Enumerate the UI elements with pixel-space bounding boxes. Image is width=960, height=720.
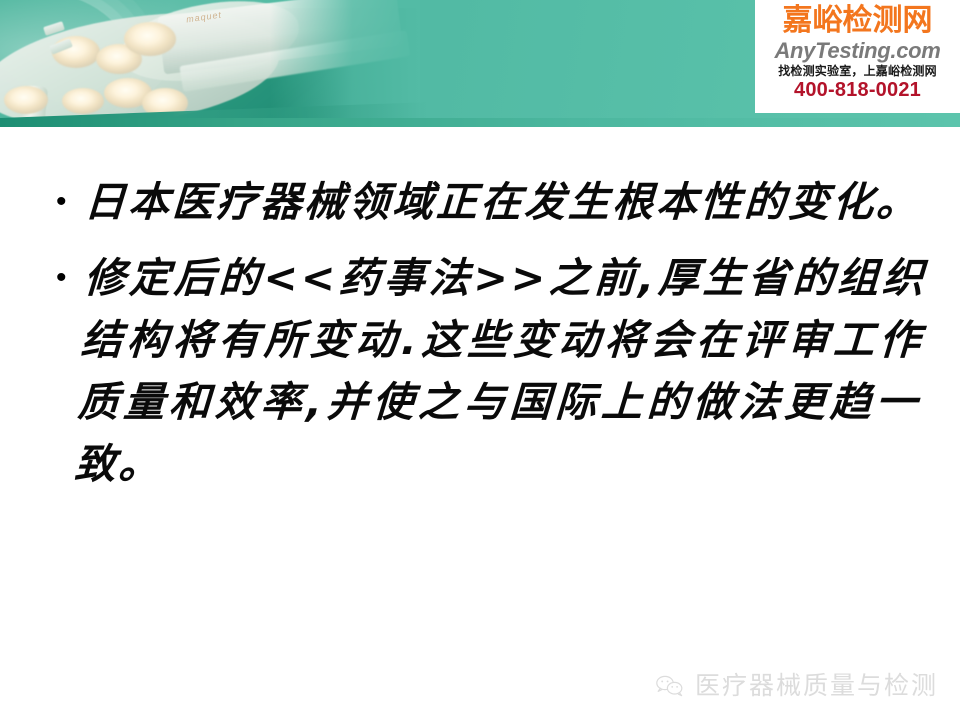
wechat-icon [655,674,685,698]
wechat-account-name: 医疗器械质量与检测 [695,672,938,700]
wechat-account-watermark: 医疗器械质量与检测 [655,672,938,700]
logo-phone-number: 400-818-0021 [794,79,921,102]
bullet-marker-icon: • [48,247,86,309]
anytesting-logo-card[interactable]: 嘉峪检测网 AnyTesting.com 找检测实验室，上嘉峪检测网 400-8… [755,0,960,113]
bullet-item: • 日本医疗器械领域正在发生根本性的变化。 [48,171,928,233]
header-banner: maquet 嘉峪检测网 AnyTesting.com 找检测实验室，上嘉峪检测… [0,0,960,127]
logo-tagline: 找检测实验室，上嘉峪检测网 [778,63,937,79]
logo-brand-chinese: 嘉峪检测网 [783,4,933,38]
slide-root: maquet 嘉峪检测网 AnyTesting.com 找检测实验室，上嘉峪检测… [0,0,960,720]
slide-body: • 日本医疗器械领域正在发生根本性的变化。 • 修定后的<<药事法>>之前,厚生… [0,127,960,720]
bullet-marker-icon: • [48,171,86,233]
bullet-list: • 日本医疗器械领域正在发生根本性的变化。 • 修定后的<<药事法>>之前,厚生… [48,171,928,509]
banner-bottom-edge [0,118,960,127]
bullet-text: 修定后的<<药事法>>之前,厚生省的组织结构将有所变动.这些变动将会在评审工作质… [73,247,928,495]
bullet-item: • 修定后的<<药事法>>之前,厚生省的组织结构将有所变动.这些变动将会在评审工… [48,247,928,495]
logo-brand-english: AnyTesting.com [774,38,940,63]
lamp-light-pod [4,86,48,114]
lamp-light-pod [124,22,176,56]
lamp-light-pod [62,88,104,114]
bullet-text: 日本医疗器械领域正在发生根本性的变化。 [83,171,928,233]
